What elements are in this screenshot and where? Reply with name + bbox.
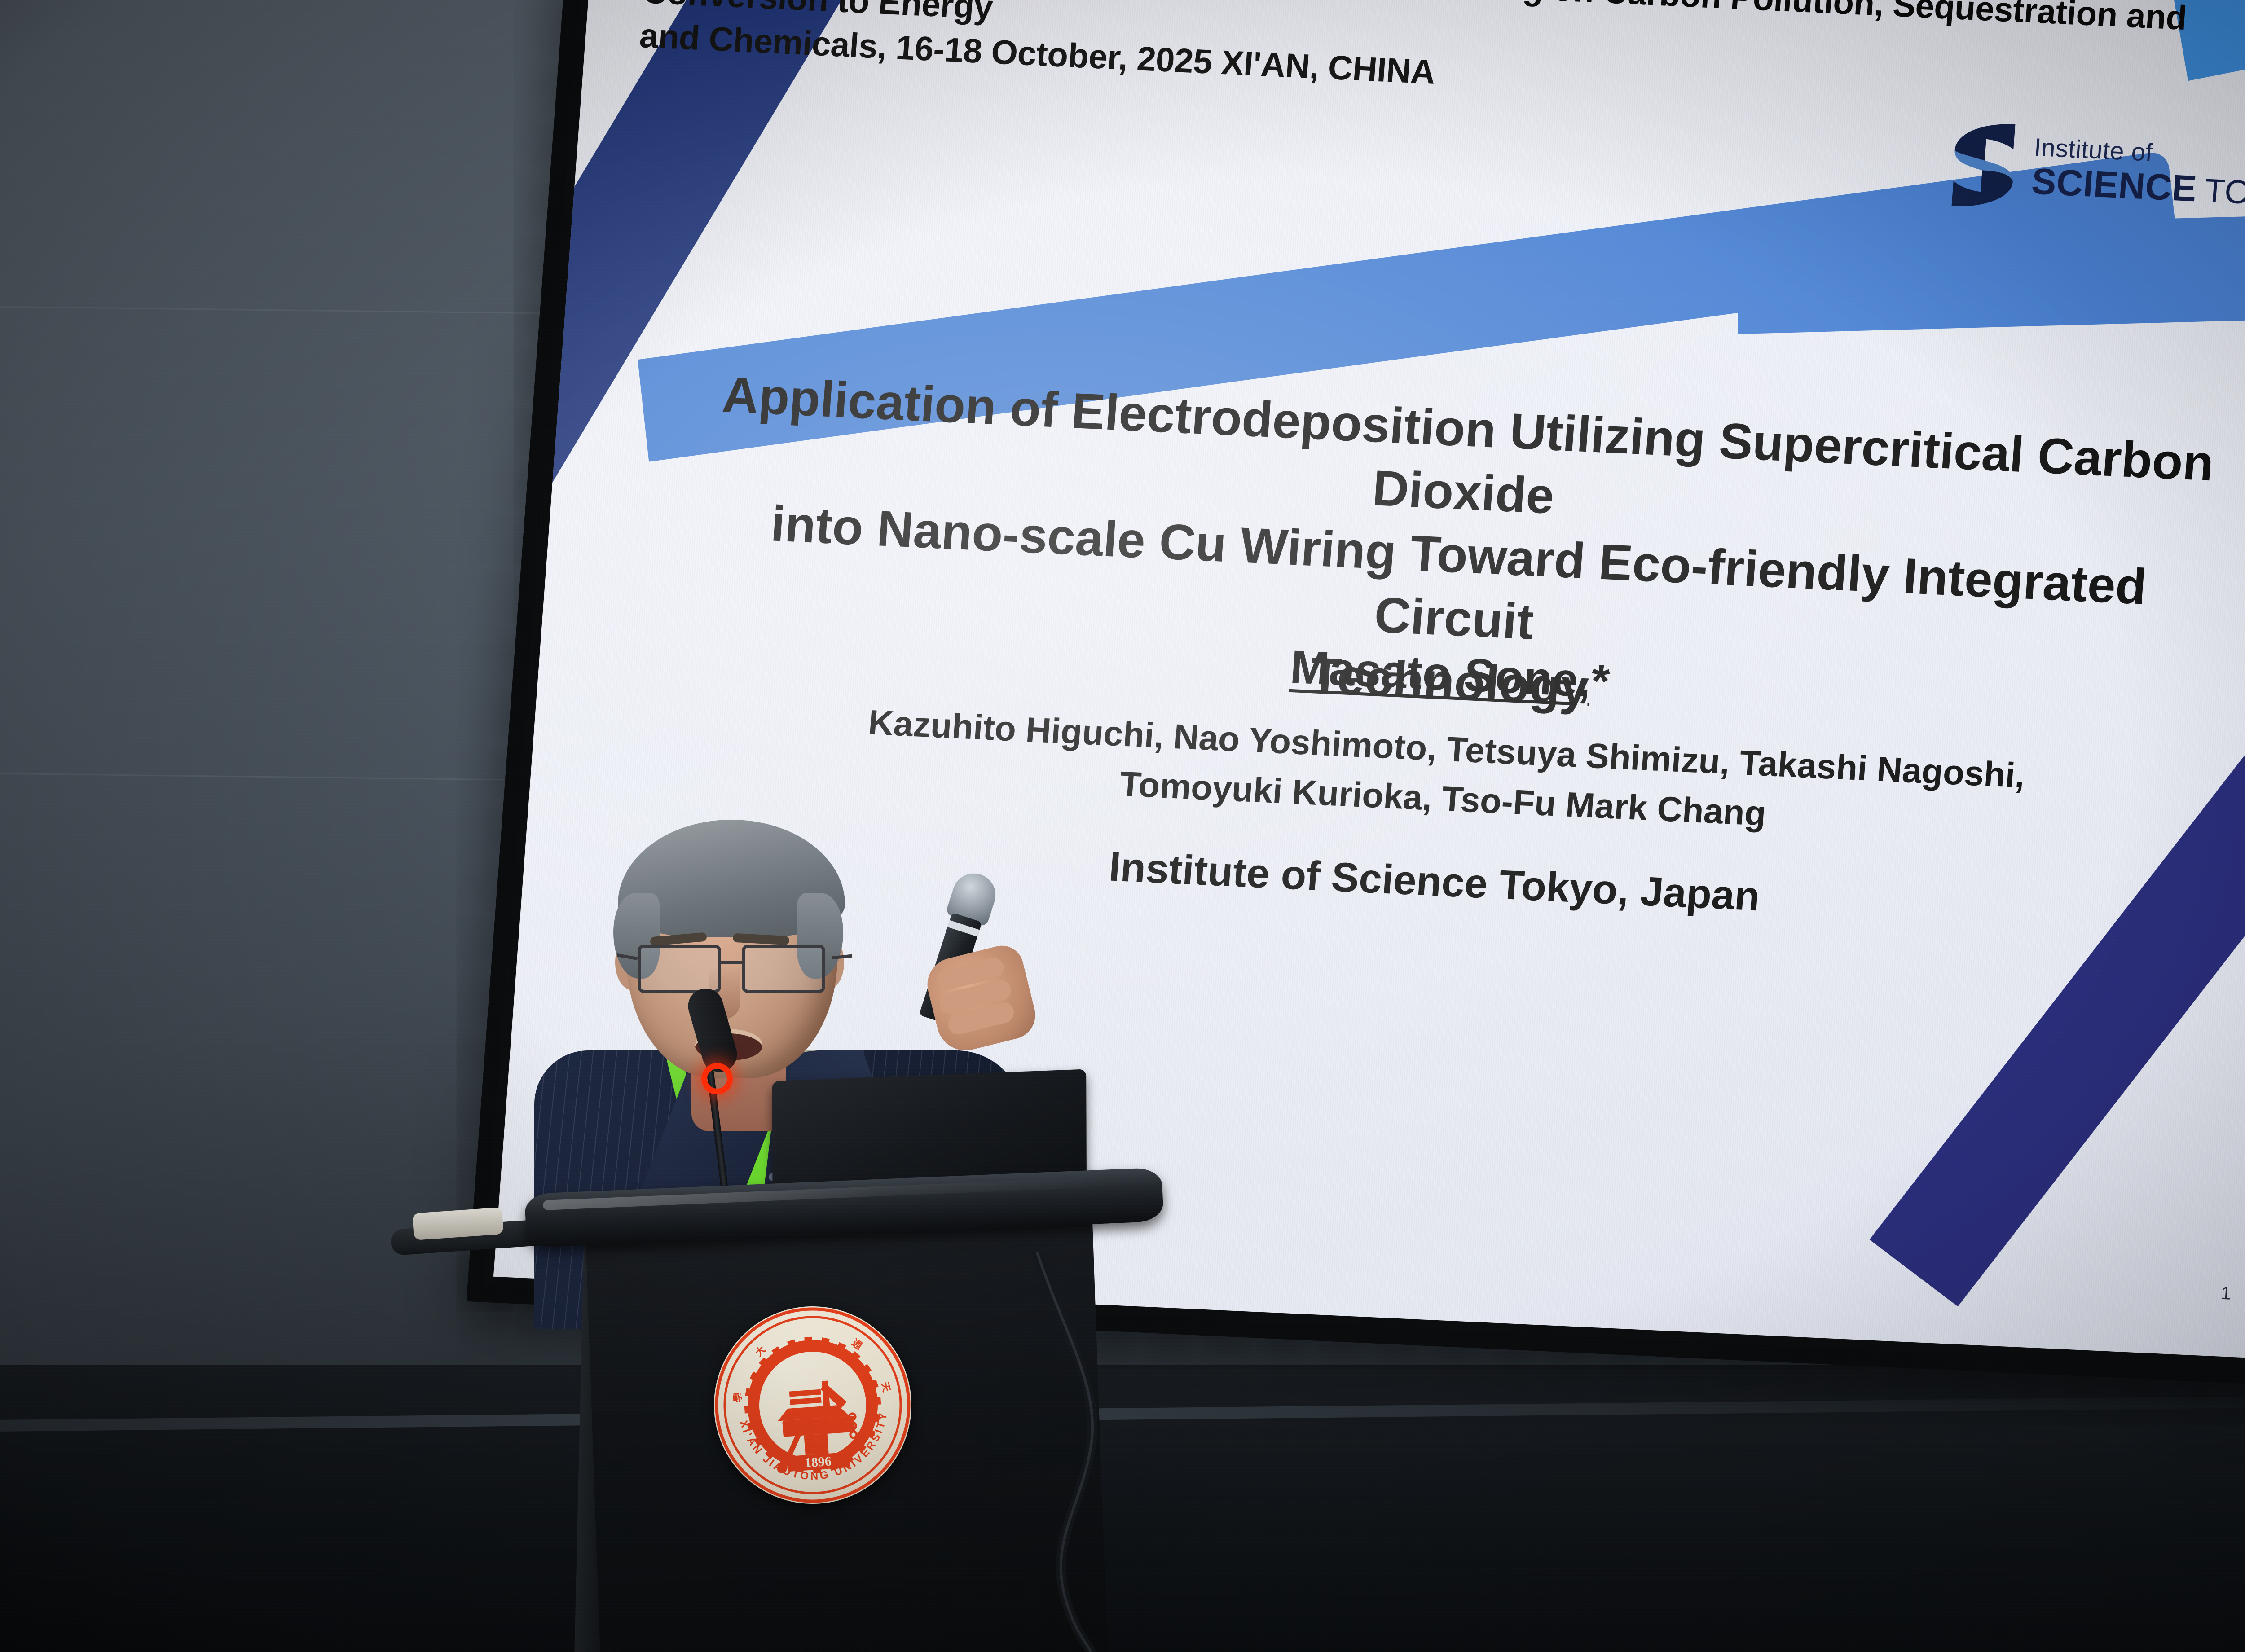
svg-text:學: 學 bbox=[732, 1392, 744, 1403]
svg-text:通: 通 bbox=[850, 1337, 864, 1352]
institute-of-science-tokyo-logo: Institute of SCIENCE TOKYO bbox=[1947, 119, 2245, 225]
presentation-photo-scene: THE XI'AN CARBON MEETING- An Internation… bbox=[0, 0, 2245, 1652]
eyeglass-lens bbox=[638, 945, 721, 993]
microphone-status-led bbox=[701, 1063, 733, 1094]
conference-header: THE XI'AN CARBON MEETING- An Internation… bbox=[638, 0, 2245, 136]
svg-text:天: 天 bbox=[879, 1381, 893, 1393]
xian-jiaotong-university-seal-icon: 1896 大 通 天 學 XI'AN JIAOTONG UNIVERSITY bbox=[707, 1300, 918, 1511]
eyeglass-bridge bbox=[721, 961, 743, 964]
slide-page-number: 1 bbox=[2220, 1283, 2232, 1304]
eyeglass-lens bbox=[742, 945, 825, 993]
svg-text:大: 大 bbox=[753, 1344, 768, 1358]
gooseneck-capsule bbox=[684, 984, 741, 1076]
cable-path bbox=[1024, 1252, 1176, 1652]
audio-cable bbox=[1024, 1252, 1176, 1652]
ist-s-mark-icon bbox=[1947, 119, 2021, 211]
university-emblem: 1896 大 通 天 學 XI'AN JIAOTONG UNIVERSITY bbox=[707, 1300, 918, 1511]
ist-logo-tokyo: TOKYO bbox=[2204, 174, 2245, 212]
corresponding-author-marker: * bbox=[1589, 655, 1611, 708]
ist-logo-science: SCIENCE bbox=[2030, 163, 2198, 208]
ist-logo-line-2: SCIENCE TOKYO bbox=[2030, 163, 2245, 214]
podium-top-highlight bbox=[543, 1176, 1118, 1210]
ist-wordmark: Institute of SCIENCE TOKYO bbox=[2030, 135, 2245, 213]
decor-band-blue-sweep-upper bbox=[1738, 213, 2245, 334]
svg-text:1896: 1896 bbox=[804, 1454, 832, 1470]
